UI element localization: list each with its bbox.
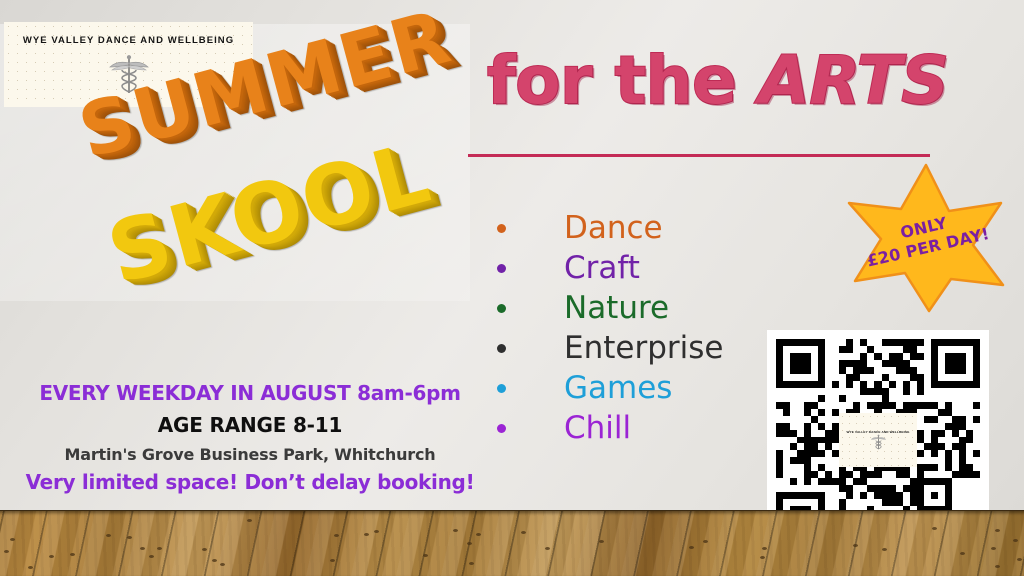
- wood-knot: [330, 559, 335, 562]
- wood-knot: [932, 527, 937, 530]
- bullet-dot-icon: [497, 304, 506, 313]
- wood-knot: [106, 534, 111, 537]
- wood-knot: [476, 533, 481, 536]
- poster-canvas: WYE VALLEY DANCE AND WELLBEING SUMMER SK…: [0, 0, 1024, 576]
- activity-label: Dance: [564, 213, 663, 244]
- schedule-text: EVERY WEEKDAY IN AUGUST 8am-6pm: [0, 381, 500, 405]
- wood-knot: [157, 547, 162, 550]
- wood-knot: [853, 544, 858, 547]
- title-emphasis: ARTS: [759, 42, 949, 119]
- wood-knot: [4, 550, 9, 553]
- age-range-text: AGE RANGE 8-11: [0, 413, 500, 437]
- wood-knot: [247, 519, 252, 522]
- activity-label: Chill: [564, 413, 631, 444]
- wood-knot: [1017, 558, 1022, 561]
- venue-text: Martin's Grove Business Park, Whitchurch: [0, 445, 500, 464]
- wood-knot: [469, 562, 474, 565]
- wood-knot: [364, 533, 369, 536]
- urgency-text: Very limited space! Don’t delay booking!: [0, 470, 500, 494]
- qr-center-logo: WYE VALLEY DANCE AND WELLBEING: [839, 413, 917, 467]
- wood-knot: [689, 546, 694, 549]
- wood-knot: [995, 529, 1000, 532]
- wood-knot: [521, 531, 526, 534]
- wood-knot: [991, 547, 996, 550]
- bullet-dot-icon: [497, 224, 506, 233]
- wood-knot: [423, 554, 428, 557]
- wood-knot: [467, 542, 472, 545]
- wood-knot: [760, 556, 765, 559]
- wood-knot: [453, 529, 458, 532]
- wood-knot: [1013, 539, 1018, 542]
- event-info-block: EVERY WEEKDAY IN AUGUST 8am-6pm AGE RANG…: [0, 381, 500, 494]
- wood-knot: [995, 565, 1000, 568]
- wood-knot: [703, 540, 708, 543]
- list-item: Craft: [497, 248, 827, 288]
- activity-label: Craft: [564, 253, 640, 284]
- price-star-badge: ONLY £20 PER DAY!: [843, 163, 1009, 313]
- wood-knot: [599, 540, 604, 543]
- list-item: Dance: [497, 208, 827, 248]
- wood-knot: [960, 552, 965, 555]
- wood-knot: [70, 553, 75, 556]
- activity-label: Nature: [564, 293, 669, 324]
- bullet-dot-icon: [497, 264, 506, 273]
- brand-name-text: WYE VALLEY DANCE AND WELLBEING: [23, 35, 234, 46]
- title-prefix: for the: [487, 42, 759, 119]
- wood-knot: [149, 555, 154, 558]
- wood-knot: [10, 538, 15, 541]
- activity-label: Games: [564, 373, 672, 404]
- wood-knot: [762, 547, 767, 550]
- wood-knot: [28, 566, 33, 569]
- wood-knot: [545, 547, 550, 550]
- wood-knot: [140, 547, 145, 550]
- six-point-star-icon: [843, 163, 1009, 313]
- list-item: Nature: [497, 288, 827, 328]
- wood-knot: [334, 534, 339, 537]
- page-title: for the ARTS: [487, 48, 948, 114]
- wood-knot: [212, 559, 217, 562]
- wood-knot: [220, 563, 225, 566]
- wooden-floor: [0, 510, 1024, 576]
- wood-knot: [374, 530, 379, 533]
- bullet-dot-icon: [497, 344, 506, 353]
- wood-knot: [882, 548, 887, 551]
- activity-label: Enterprise: [564, 333, 723, 364]
- wood-knot: [49, 555, 54, 558]
- wood-knot: [202, 548, 207, 551]
- wood-knot: [127, 536, 132, 539]
- caduceus-icon: [870, 434, 887, 450]
- title-divider: [468, 154, 930, 157]
